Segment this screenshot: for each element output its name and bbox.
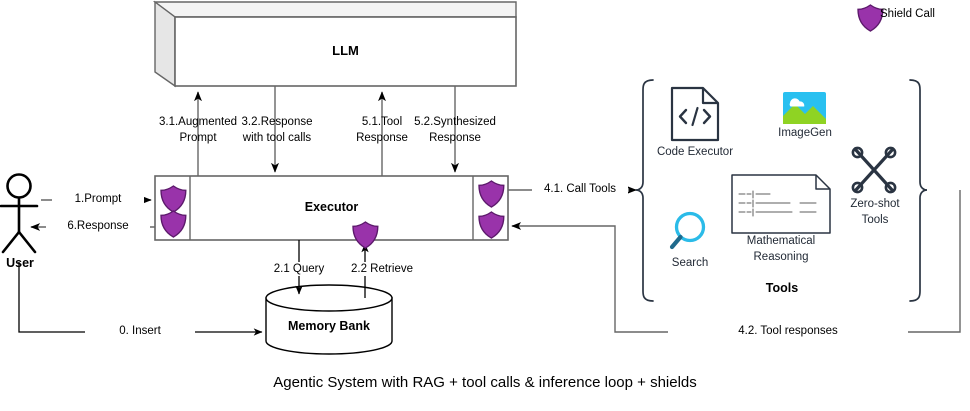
image-picture-icon (783, 92, 826, 124)
tool-label-math-reasoning-line2: Reasoning (731, 250, 831, 264)
tool-label-math-reasoning-line1: Mathematical (731, 234, 831, 248)
magnifier-icon (672, 214, 704, 248)
memory-bank-label: Memory Bank (266, 319, 392, 333)
edge-label-response: 6.Response (46, 219, 150, 233)
edge-label-call-tools: 4.1. Call Tools (532, 182, 628, 196)
edge-label-response-tool-calls-line2: with tool calls (222, 131, 332, 145)
legend-shield-call-label: Shield Call (880, 7, 966, 21)
tool-label-search: Search (660, 256, 720, 270)
tools-group-label: Tools (730, 281, 834, 295)
diagram-caption: Agentic System with RAG + tool calls & i… (0, 376, 970, 390)
tool-label-zero-shot-line2: Tools (842, 213, 908, 227)
crossed-wrenches-icon (853, 148, 895, 192)
llm-label: LLM (175, 44, 516, 58)
edge-insert (19, 262, 262, 332)
edge-label-retrieve: 2.2 Retrieve (334, 262, 430, 276)
user-label: User (0, 256, 40, 270)
executor-label: Executor (190, 200, 473, 214)
edge-label-tool-responses: 4.2. Tool responses (668, 324, 908, 338)
math-document-icon (732, 175, 830, 233)
edge-label-query: 2.1 Query (257, 262, 341, 276)
tool-label-zero-shot-line1: Zero-shot (842, 197, 908, 211)
tool-label-image-gen: ImageGen (764, 126, 846, 140)
shield-icon-memory (353, 222, 378, 248)
tool-label-code-executor: Code Executor (645, 145, 745, 159)
diagram-vector-layer (0, 0, 970, 411)
edge-label-insert: 0. Insert (85, 324, 195, 338)
diagram-canvas: LLM Executor Memory Bank User Tools Shie… (0, 0, 970, 411)
code-document-icon (672, 88, 718, 140)
edge-label-synthesized-response-line2: Response (398, 131, 512, 145)
edge-label-synthesized-response-line1: 5.2.Synthesized (398, 115, 512, 129)
edge-label-response-tool-calls-line1: 3.2.Response (222, 115, 332, 129)
edge-label-prompt: 1.Prompt (52, 192, 144, 206)
user-actor (1, 175, 37, 253)
